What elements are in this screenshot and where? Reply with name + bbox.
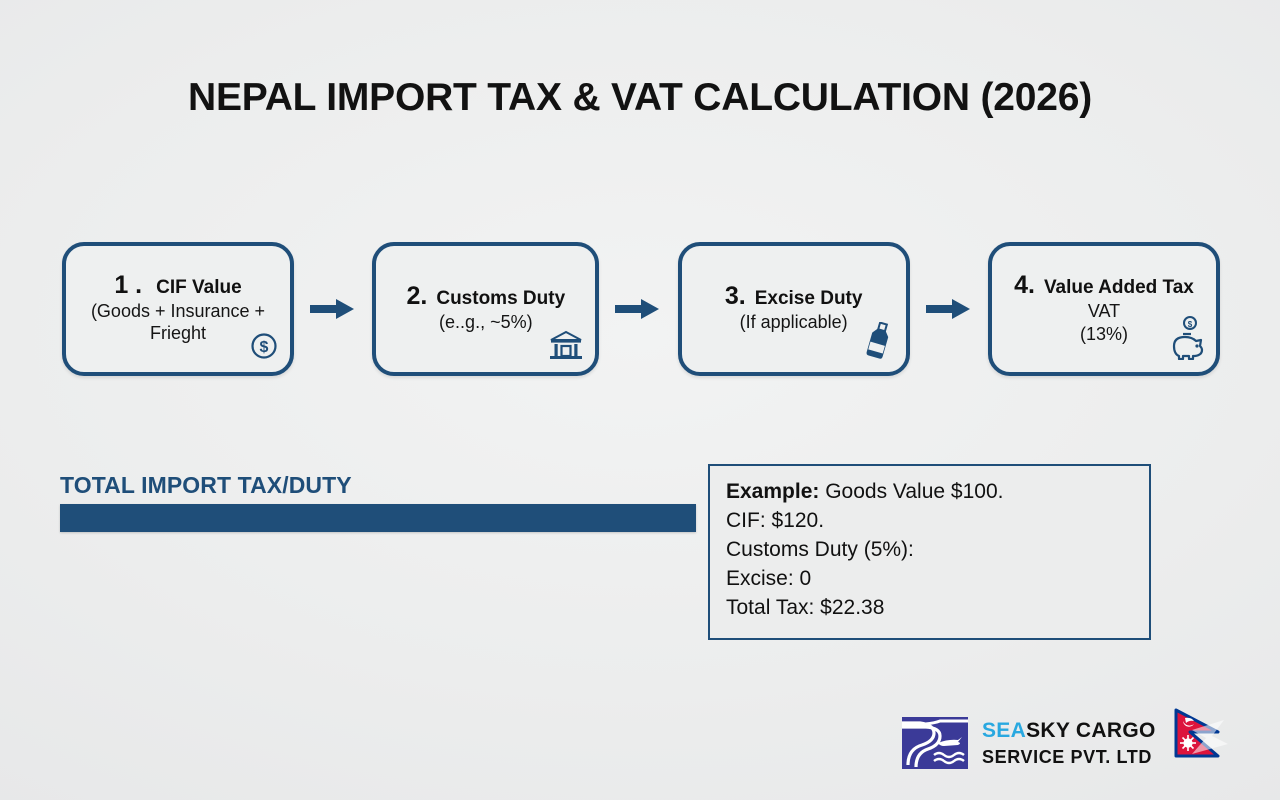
flow-step-heading: 3. Excise Duty [725,282,863,311]
flow-step-subtitle-rate: (13%) [1080,324,1128,346]
flow-step-cif-value[interactable]: 1 . CIF Value (Goods + Insurance + Frieg… [62,242,294,376]
flow-step-heading: 1 . CIF Value [114,271,241,300]
flow-step-customs-duty[interactable]: 2. Customs Duty (e..g., ~5%) [372,242,599,376]
flow-step-number: 1 . [114,271,142,300]
flow-step-number: 2. [407,282,428,311]
total-import-tax-bar [60,504,696,532]
flow-step-subtitle: (If applicable) [740,312,848,334]
arrow-right-icon [615,297,661,321]
example-line-total-tax: Total Tax: $22.38 [726,594,1133,623]
page-title: NEPAL IMPORT TAX & VAT CALCULATION (2026… [0,76,1280,120]
flow-step-title: Excise Duty [755,288,863,310]
svg-text:$: $ [1188,320,1193,329]
flow-step-subtitle: (e..g., ~5%) [439,312,533,334]
flow-arrow-1 [294,242,372,376]
example-line-excise: Excise: 0 [726,565,1133,594]
flow-step-title: CIF Value [156,277,242,299]
bottle-icon [864,322,894,360]
tax-flow-diagram: 1 . CIF Value (Goods + Insurance + Frieg… [62,242,1220,376]
company-logo-block: SEASKY CARGO SERVICE PVT. LTD [900,706,1272,780]
flow-arrow-2 [599,242,677,376]
example-line-goods-value: Example: Goods Value $100. [726,478,1133,507]
flow-step-number: 4. [1014,271,1035,300]
flow-step-number: 3. [725,282,746,311]
arrow-right-icon [926,297,972,321]
seasky-wave-plane-logo-icon [900,715,970,771]
example-panel: Example: Goods Value $100. CIF: $120. Cu… [708,464,1151,640]
total-import-tax-label: TOTAL IMPORT TAX/DUTY [60,472,352,499]
flow-step-heading: 4. Value Added Tax [1014,271,1194,300]
slide-canvas: NEPAL IMPORT TAX & VAT CALCULATION (2026… [0,0,1280,800]
flow-step-title: Customs Duty [436,288,565,310]
flow-step-subtitle-vat: VAT [1088,301,1120,323]
arrow-right-icon [310,297,356,321]
flow-step-heading: 2. Customs Duty [407,282,566,311]
logo-wordmark: SEASKY CARGO SERVICE PVT. LTD [982,719,1156,768]
nepal-flag-icon [1172,708,1234,778]
example-goods-value: Goods Value $100. [819,480,1003,503]
example-lead-label: Example: [726,480,819,503]
svg-text:$: $ [260,339,269,356]
logo-name-accent: SEA [982,719,1026,742]
flow-step-excise-duty[interactable]: 3. Excise Duty (If applicable) [678,242,910,376]
flow-step-title: Value Added Tax [1044,277,1194,299]
example-line-customs-duty: Customs Duty (5%): [726,536,1133,565]
flow-arrow-3 [910,242,988,376]
dollar-coin-icon: $ [250,332,278,360]
flow-step-value-added-tax[interactable]: 4. Value Added Tax VAT (13%) $ [988,242,1220,376]
piggy-bank-icon: $ [1168,316,1206,360]
logo-tagline: SERVICE PVT. LTD [982,747,1156,768]
logo-name-rest: SKY CARGO [1026,719,1156,742]
bank-icon [549,330,583,362]
example-line-cif: CIF: $120. [726,507,1133,536]
logo-company-name: SEASKY CARGO [982,719,1156,743]
